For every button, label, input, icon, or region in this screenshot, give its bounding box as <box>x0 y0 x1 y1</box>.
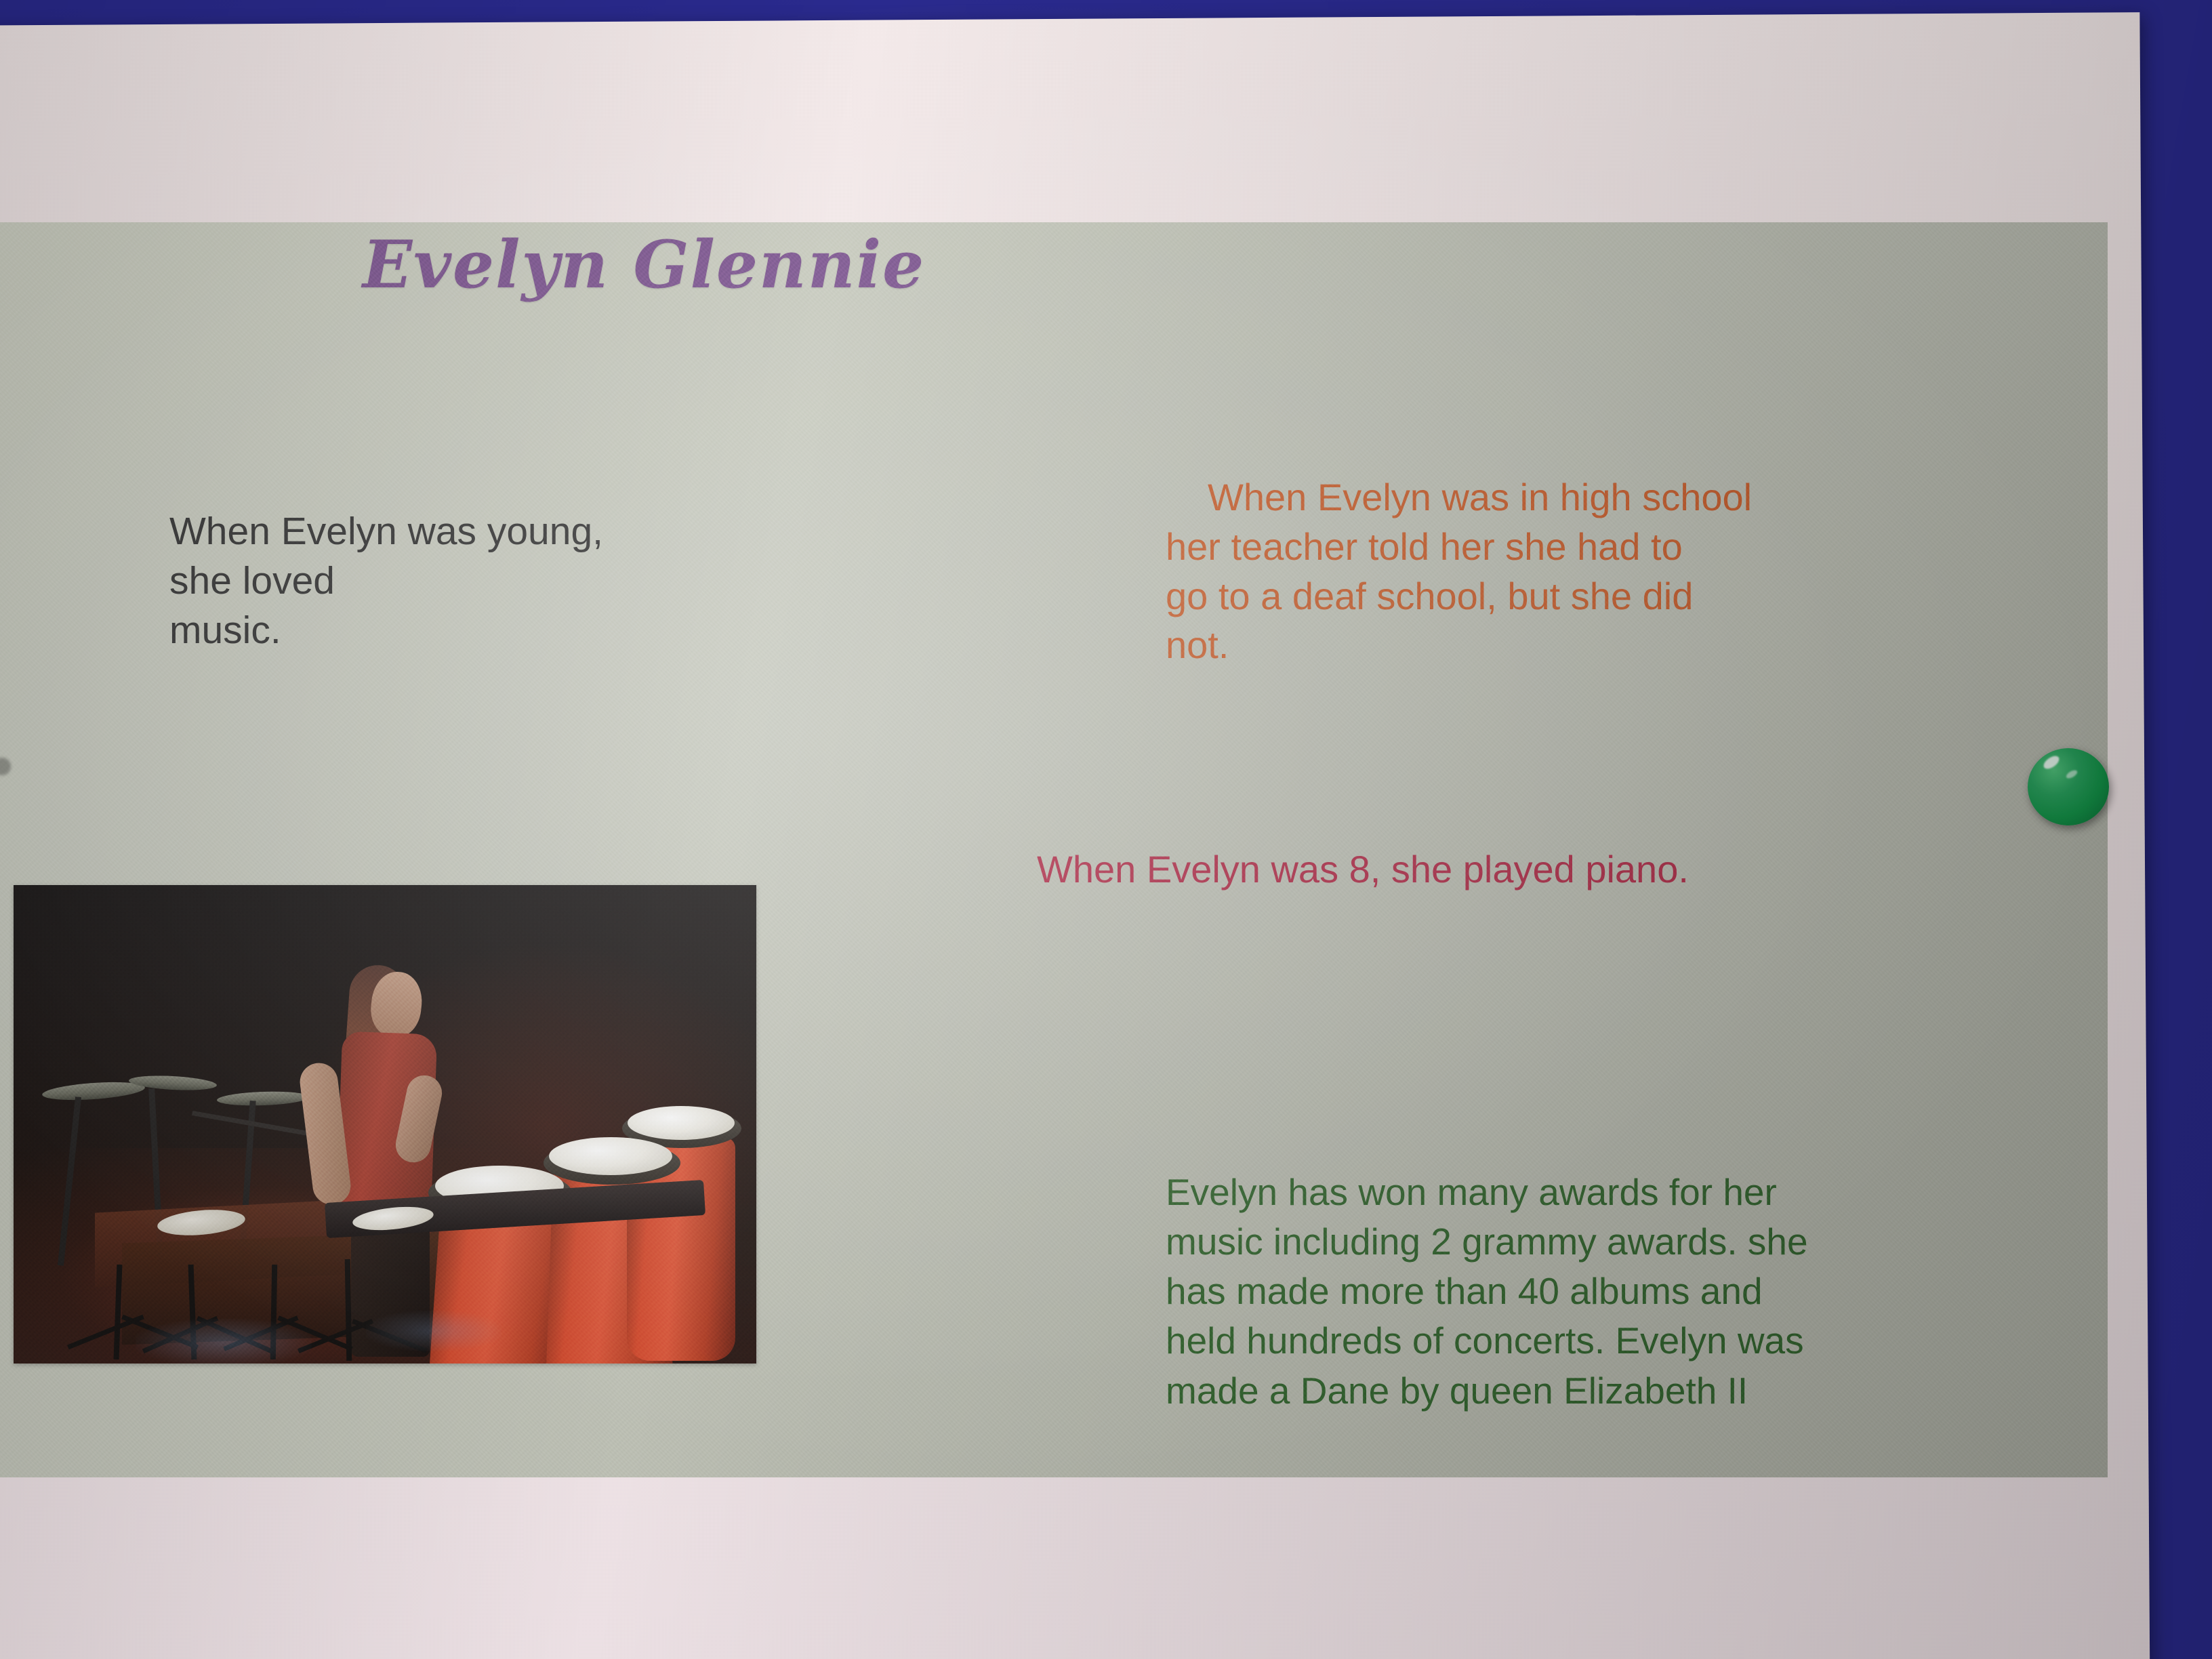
magnet-highlight <box>2041 754 2061 771</box>
photographed-scene: Evelyn Glennie When Evelyn was young, sh… <box>0 0 2212 1659</box>
conga-head <box>628 1106 735 1140</box>
text-block-awards: Evelyn has won many awards for her music… <box>1166 1168 1809 1416</box>
stand-leg <box>345 1259 352 1361</box>
text-line: When Evelyn was 8, she played piano. <box>1037 846 1782 893</box>
text-line: her teacher told her she had to <box>1166 523 1762 572</box>
green-magnet[interactable] <box>2028 748 2109 825</box>
text-block-piano: When Evelyn was 8, she played piano. <box>1037 846 1782 893</box>
performance-photo <box>14 885 756 1364</box>
text-line: music. <box>169 606 644 655</box>
text-line: Evelyn has won many awards for her <box>1166 1168 1809 1217</box>
text-line: made a Dane by queen Elizabeth II <box>1166 1366 1809 1416</box>
stand-leg <box>114 1265 123 1359</box>
slide-canvas: Evelyn Glennie When Evelyn was young, sh… <box>0 222 2108 1477</box>
text-line: go to a deaf school, but she did <box>1166 572 1762 621</box>
magnet-highlight <box>2065 769 2078 780</box>
text-line: music including 2 grammy awards. she <box>1166 1217 1809 1267</box>
text-block-high-school: When Evelyn was in high school her teach… <box>1166 473 1762 670</box>
text-line: When Evelyn was in high school <box>1166 473 1762 523</box>
text-line: has made more than 40 albums and <box>1166 1267 1809 1316</box>
text-line: held hundreds of concerts. Evelyn was <box>1166 1316 1809 1366</box>
text-block-young: When Evelyn was young, she loved music. <box>169 507 644 655</box>
page-title: Evelyn Glennie <box>363 226 972 303</box>
text-line: When Evelyn was young, she loved <box>169 507 644 606</box>
floor-reflection <box>366 1311 501 1351</box>
conga-head <box>549 1137 672 1175</box>
floor-reflection <box>136 1319 312 1364</box>
text-line: not. <box>1166 621 1762 670</box>
